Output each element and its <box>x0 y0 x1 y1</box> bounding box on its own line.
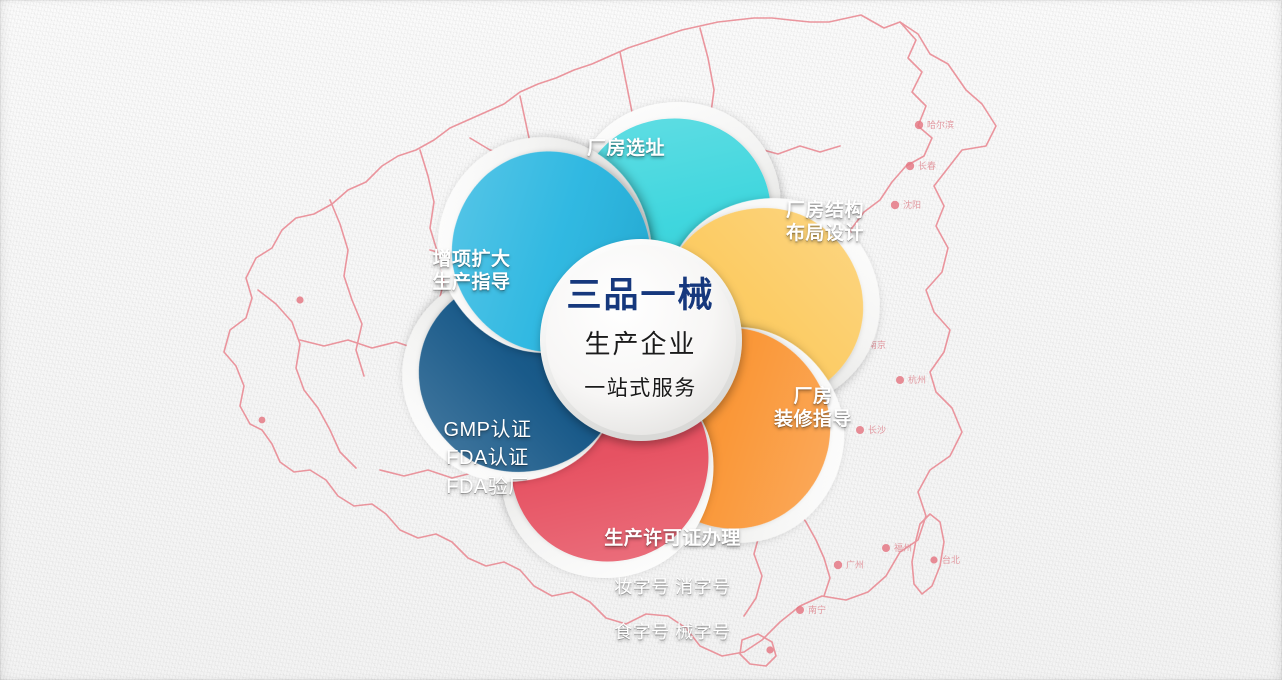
center-core <box>540 239 742 441</box>
infographic-canvas: 哈尔滨 长春 沈阳 北京 济南 南京 杭州 长沙 广州 福州 南宁 台北 <box>0 0 1282 680</box>
six-petal-wheel <box>341 40 941 640</box>
svg-text:台北: 台北 <box>942 554 960 565</box>
